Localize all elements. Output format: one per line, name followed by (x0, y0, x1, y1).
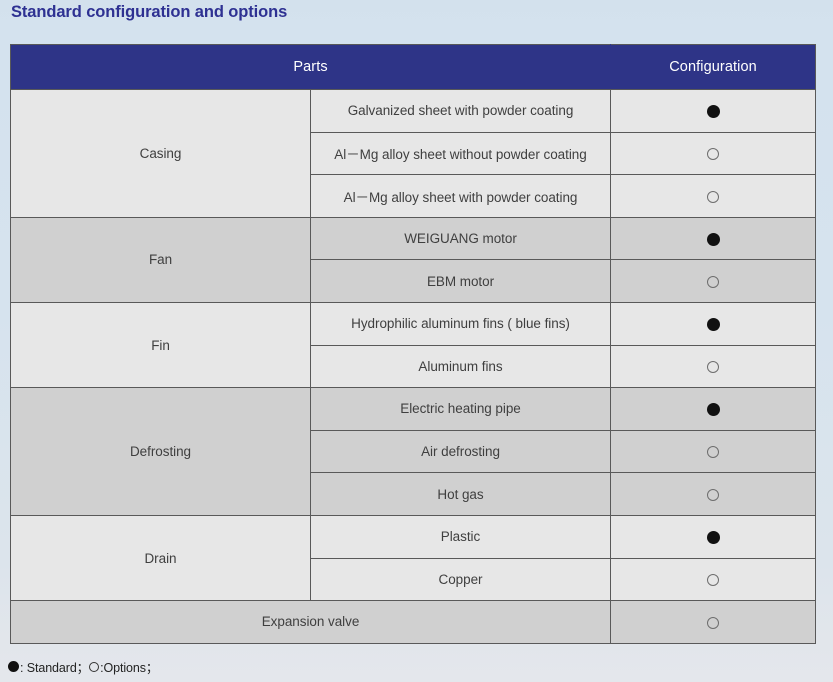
cell-option: EBM motor (311, 260, 611, 303)
cell-option: Aluminum fins (311, 345, 611, 388)
cell-part-group: Defrosting (11, 388, 311, 516)
standard-marker-icon (707, 318, 720, 331)
cell-configuration (611, 217, 816, 260)
option-marker-icon (707, 361, 719, 373)
table-header-row: Parts Configuration (11, 45, 816, 90)
open-circle-icon (89, 662, 99, 672)
legend-standard-label: : Standard； (20, 657, 89, 676)
column-header-parts: Parts (11, 45, 611, 90)
legend: : Standard； :Options； (8, 657, 158, 676)
option-marker-icon (707, 148, 719, 160)
option-marker-icon (707, 446, 719, 458)
cell-configuration (611, 302, 816, 345)
filled-circle-icon (8, 661, 19, 672)
table-row: FanWEIGUANG motor (11, 217, 816, 260)
cell-part-option-merged: Expansion valve (11, 601, 611, 644)
table-row: Expansion valve (11, 601, 816, 644)
cell-option: Air defrosting (311, 430, 611, 473)
cell-option: Al－Mg alloy sheet without powder coating (311, 132, 611, 175)
legend-options-label: :Options； (100, 657, 158, 676)
table-row: DrainPlastic (11, 515, 816, 558)
table-row: DefrostingElectric heating pipe (11, 388, 816, 431)
standard-marker-icon (707, 403, 720, 416)
standard-marker-icon (707, 233, 720, 246)
option-marker-icon (707, 574, 719, 586)
column-header-configuration: Configuration (611, 45, 816, 90)
option-marker-icon (707, 191, 719, 203)
cell-option: Galvanized sheet with powder coating (311, 90, 611, 133)
option-marker-icon (707, 489, 719, 501)
cell-configuration (611, 473, 816, 516)
standard-configuration-table: Parts Configuration CasingGalvanized she… (10, 44, 816, 644)
cell-option: Hydrophilic aluminum fins ( blue fins) (311, 302, 611, 345)
cell-part-group: Drain (11, 515, 311, 600)
option-marker-icon (707, 276, 719, 288)
cell-configuration (611, 345, 816, 388)
page-root: Standard configuration and options Parts… (0, 0, 833, 682)
table-row: CasingGalvanized sheet with powder coati… (11, 90, 816, 133)
cell-option: WEIGUANG motor (311, 217, 611, 260)
standard-marker-icon (707, 531, 720, 544)
cell-part-group: Fan (11, 217, 311, 302)
cell-configuration (611, 132, 816, 175)
cell-configuration (611, 260, 816, 303)
cell-option: Electric heating pipe (311, 388, 611, 431)
cell-configuration (611, 430, 816, 473)
table-body: CasingGalvanized sheet with powder coati… (11, 90, 816, 644)
table-head: Parts Configuration (11, 45, 816, 90)
standard-marker-icon (707, 105, 720, 118)
option-marker-icon (707, 617, 719, 629)
cell-part-group: Fin (11, 302, 311, 387)
cell-option: Hot gas (311, 473, 611, 516)
cell-part-group: Casing (11, 90, 311, 218)
cell-configuration (611, 388, 816, 431)
cell-configuration (611, 515, 816, 558)
page-title: Standard configuration and options (11, 3, 287, 22)
cell-option: Plastic (311, 515, 611, 558)
cell-configuration (611, 601, 816, 644)
cell-option: Copper (311, 558, 611, 601)
cell-option: Al－Mg alloy sheet with powder coating (311, 175, 611, 218)
cell-configuration (611, 558, 816, 601)
table-row: FinHydrophilic aluminum fins ( blue fins… (11, 302, 816, 345)
cell-configuration (611, 175, 816, 218)
cell-configuration (611, 90, 816, 133)
